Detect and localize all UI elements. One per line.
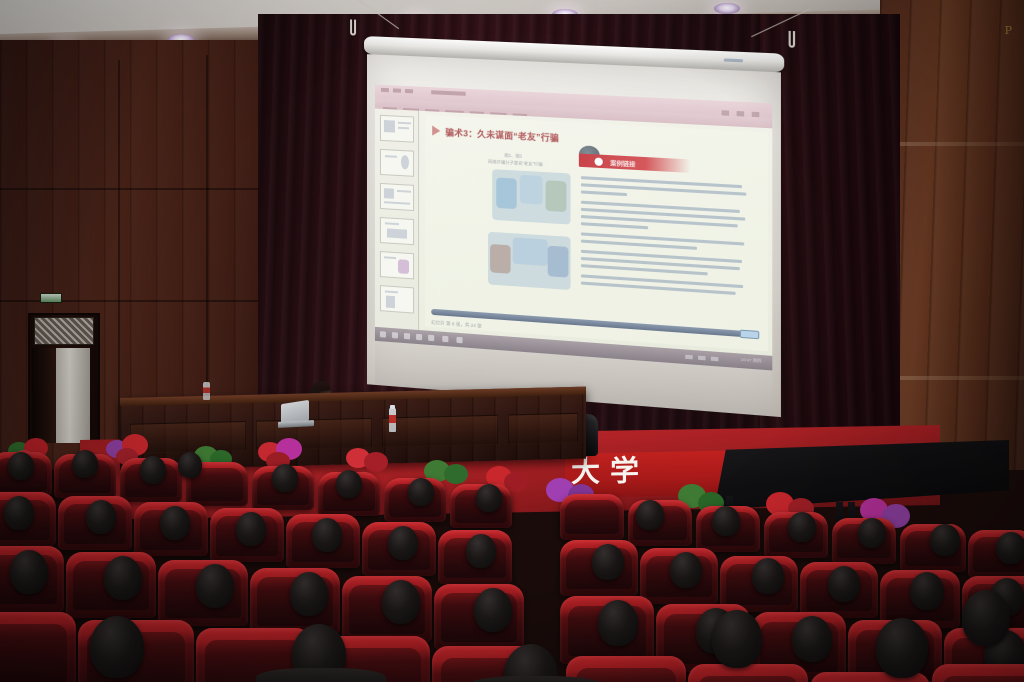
audience-head	[712, 610, 762, 668]
audience-shoulders	[256, 668, 386, 682]
auditorium-photo: 骗术3：久未谋面“老友”行骗 图1、图2 网络诈骗分子冒充“老友”行骗	[0, 0, 1024, 682]
audience-head	[910, 572, 944, 610]
audience-head	[290, 572, 328, 616]
audience-head	[670, 552, 702, 588]
audience-head	[636, 500, 664, 530]
audience-head	[858, 518, 886, 548]
audience-head	[8, 452, 34, 480]
audience-shoulders	[470, 676, 600, 682]
audience-head	[90, 616, 144, 678]
audience-head	[788, 512, 816, 542]
audience-head	[236, 512, 266, 546]
audience-head	[598, 600, 638, 646]
audience-head	[160, 506, 190, 540]
auditorium-seat[interactable]	[560, 494, 624, 540]
audience-head	[876, 618, 928, 678]
audience-head	[474, 588, 512, 632]
audience-head	[828, 566, 860, 602]
audience-head	[104, 556, 142, 600]
audience-head	[752, 558, 784, 594]
audience-head	[712, 506, 740, 536]
auditorium-seat[interactable]	[932, 664, 1024, 682]
audience-head	[388, 526, 418, 560]
audience-head	[72, 450, 98, 478]
audience-head	[312, 518, 342, 552]
audience-head	[996, 532, 1024, 564]
audience-head	[466, 534, 496, 568]
audience-head	[272, 464, 298, 492]
audience-head	[476, 484, 502, 512]
audience-head	[178, 452, 202, 478]
audience-head	[86, 500, 116, 534]
audience-head	[336, 470, 362, 498]
audience-head	[408, 478, 434, 506]
auditorium-seat[interactable]	[0, 612, 76, 682]
audience-head	[382, 580, 420, 624]
audience-head	[930, 524, 960, 556]
audience-head	[592, 544, 624, 580]
audience-head	[140, 456, 166, 484]
audience-seating	[0, 0, 1024, 682]
audience-head	[196, 564, 234, 608]
audience-head	[962, 590, 1010, 646]
auditorium-seat[interactable]	[688, 664, 808, 682]
audience-head	[4, 496, 34, 530]
audience-head	[792, 616, 832, 662]
audience-head	[10, 550, 48, 594]
